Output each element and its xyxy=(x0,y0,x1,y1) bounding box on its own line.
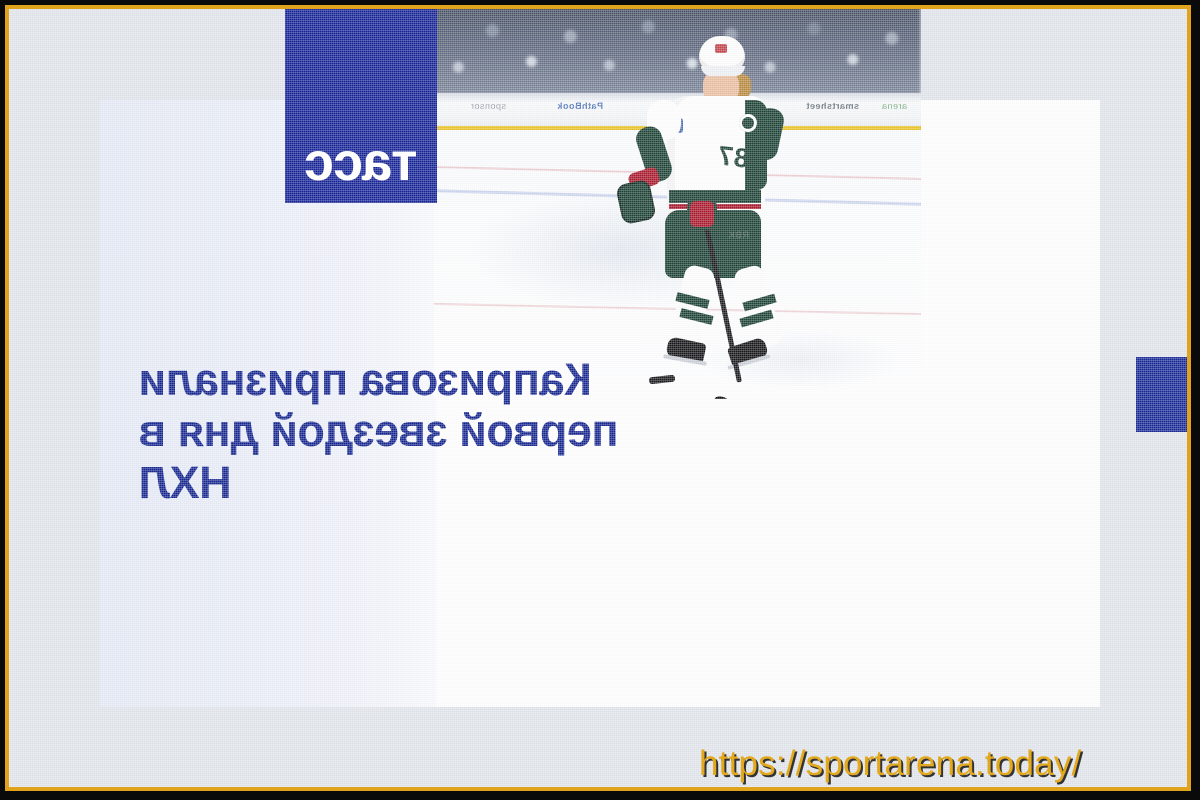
page-canvas: arena smartsheet ticket PathBook sponsor xyxy=(9,9,1187,787)
jersey-number: 87 xyxy=(715,140,751,175)
site-watermark: https://sportarena.today/ xyxy=(699,744,1081,784)
board-ad: sponsor xyxy=(470,101,506,111)
blue-accent-square xyxy=(1136,357,1187,432)
tass-logo-text: тасс xyxy=(305,135,418,189)
news-photo: arena smartsheet ticket PathBook sponsor xyxy=(434,9,921,399)
photo-mirrored-content: arena smartsheet ticket PathBook sponsor xyxy=(434,9,921,399)
headline-line-3: НХЛ xyxy=(139,457,953,508)
hockey-player: 87 RBK xyxy=(561,30,801,390)
team-crest xyxy=(739,114,757,132)
tass-logo-block: тасс xyxy=(285,9,437,203)
board-ad: arena xyxy=(881,101,907,111)
helmet-logo xyxy=(715,44,727,53)
screenshot-root: arena smartsheet ticket PathBook sponsor xyxy=(0,0,1200,800)
player-left-glove xyxy=(687,198,717,230)
headline-line-1: Капризова признали xyxy=(139,354,953,405)
board-ad: smartsheet xyxy=(806,101,859,111)
pants-brand: RBK xyxy=(727,230,749,240)
headline: Капризова признали первой звездой дня в … xyxy=(139,354,953,508)
headline-line-2: первой звездой дня в xyxy=(139,405,953,456)
helmet-visor xyxy=(701,66,745,76)
